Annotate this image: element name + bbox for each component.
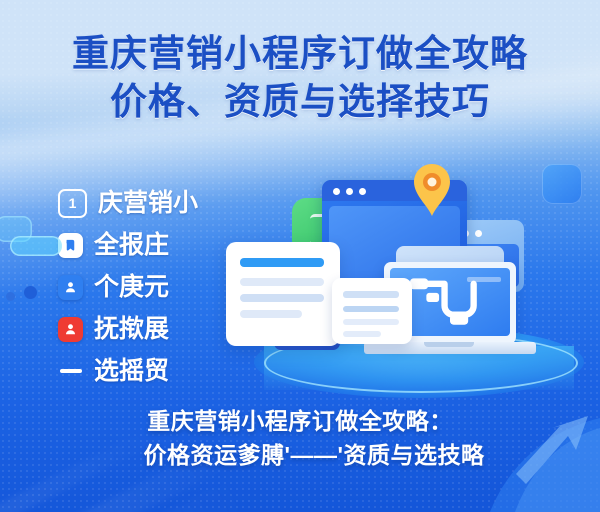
card-text-line xyxy=(240,310,302,318)
decorative-square-icon xyxy=(542,164,582,204)
list-item-label: 个庚元 xyxy=(94,275,169,300)
hero-illustration xyxy=(246,150,596,395)
list-item: 抚揿展 xyxy=(58,308,248,350)
footer-line-2: 价格资运爹膊'——'资质与选技略 xyxy=(0,438,600,472)
document-card-small xyxy=(332,278,412,344)
list-item: 全报庄 xyxy=(58,224,248,266)
decorative-dot-icon xyxy=(6,292,15,301)
footer-line-1: 重庆营销小程序订做全攻略： xyxy=(0,404,600,438)
number-one-glyph: 1 xyxy=(69,196,77,210)
list-item: 1 庆营销小 xyxy=(58,182,248,224)
browser-dot-icon xyxy=(333,188,340,195)
laptop-notch xyxy=(424,342,474,347)
dash-icon xyxy=(58,369,83,373)
browser-dot-icon xyxy=(359,188,366,195)
list-item: 选摇贸 xyxy=(58,350,248,392)
card-text-line xyxy=(240,278,324,286)
card-text-line xyxy=(343,306,399,312)
card-header-bar xyxy=(343,291,399,298)
person-red-icon xyxy=(58,317,83,342)
location-pin-icon xyxy=(410,162,454,218)
person-blue-icon xyxy=(58,275,83,300)
laptop-screen-ticks xyxy=(467,277,501,282)
list-item-label: 抚揿展 xyxy=(94,317,169,342)
number-one-outline-icon: 1 xyxy=(58,189,87,218)
decorative-dot-icon xyxy=(24,286,37,299)
decorative-pill-icon xyxy=(10,236,62,256)
footer-text: 重庆营销小程序订做全攻略： 价格资运爹膊'——'资质与选技略 xyxy=(0,404,600,472)
feature-list: 1 庆营销小 全报庄 个庚元 xyxy=(58,182,248,392)
card-text-line xyxy=(343,319,399,325)
list-item-label: 庆营销小 xyxy=(98,191,198,216)
list-item: 个庚元 xyxy=(58,266,248,308)
list-item-label: 选摇贸 xyxy=(94,359,169,384)
card-header-bar xyxy=(240,258,324,267)
poster-title: 重庆营销小程序订做全攻略 价格、资质与选择技巧 xyxy=(0,32,600,124)
card-text-line xyxy=(240,294,324,302)
browser-dot-icon xyxy=(346,188,353,195)
title-line-2: 价格、资质与选择技巧 xyxy=(0,80,600,124)
light-streak xyxy=(0,475,255,512)
document-card-large xyxy=(226,242,340,346)
list-item-label: 全报庄 xyxy=(94,233,169,258)
poster-canvas: 重庆营销小程序订做全攻略 价格、资质与选择技巧 1 庆营销小 全报庄 xyxy=(0,0,600,512)
title-line-1: 重庆营销小程序订做全攻略 xyxy=(0,32,600,76)
card-text-line xyxy=(343,331,381,337)
